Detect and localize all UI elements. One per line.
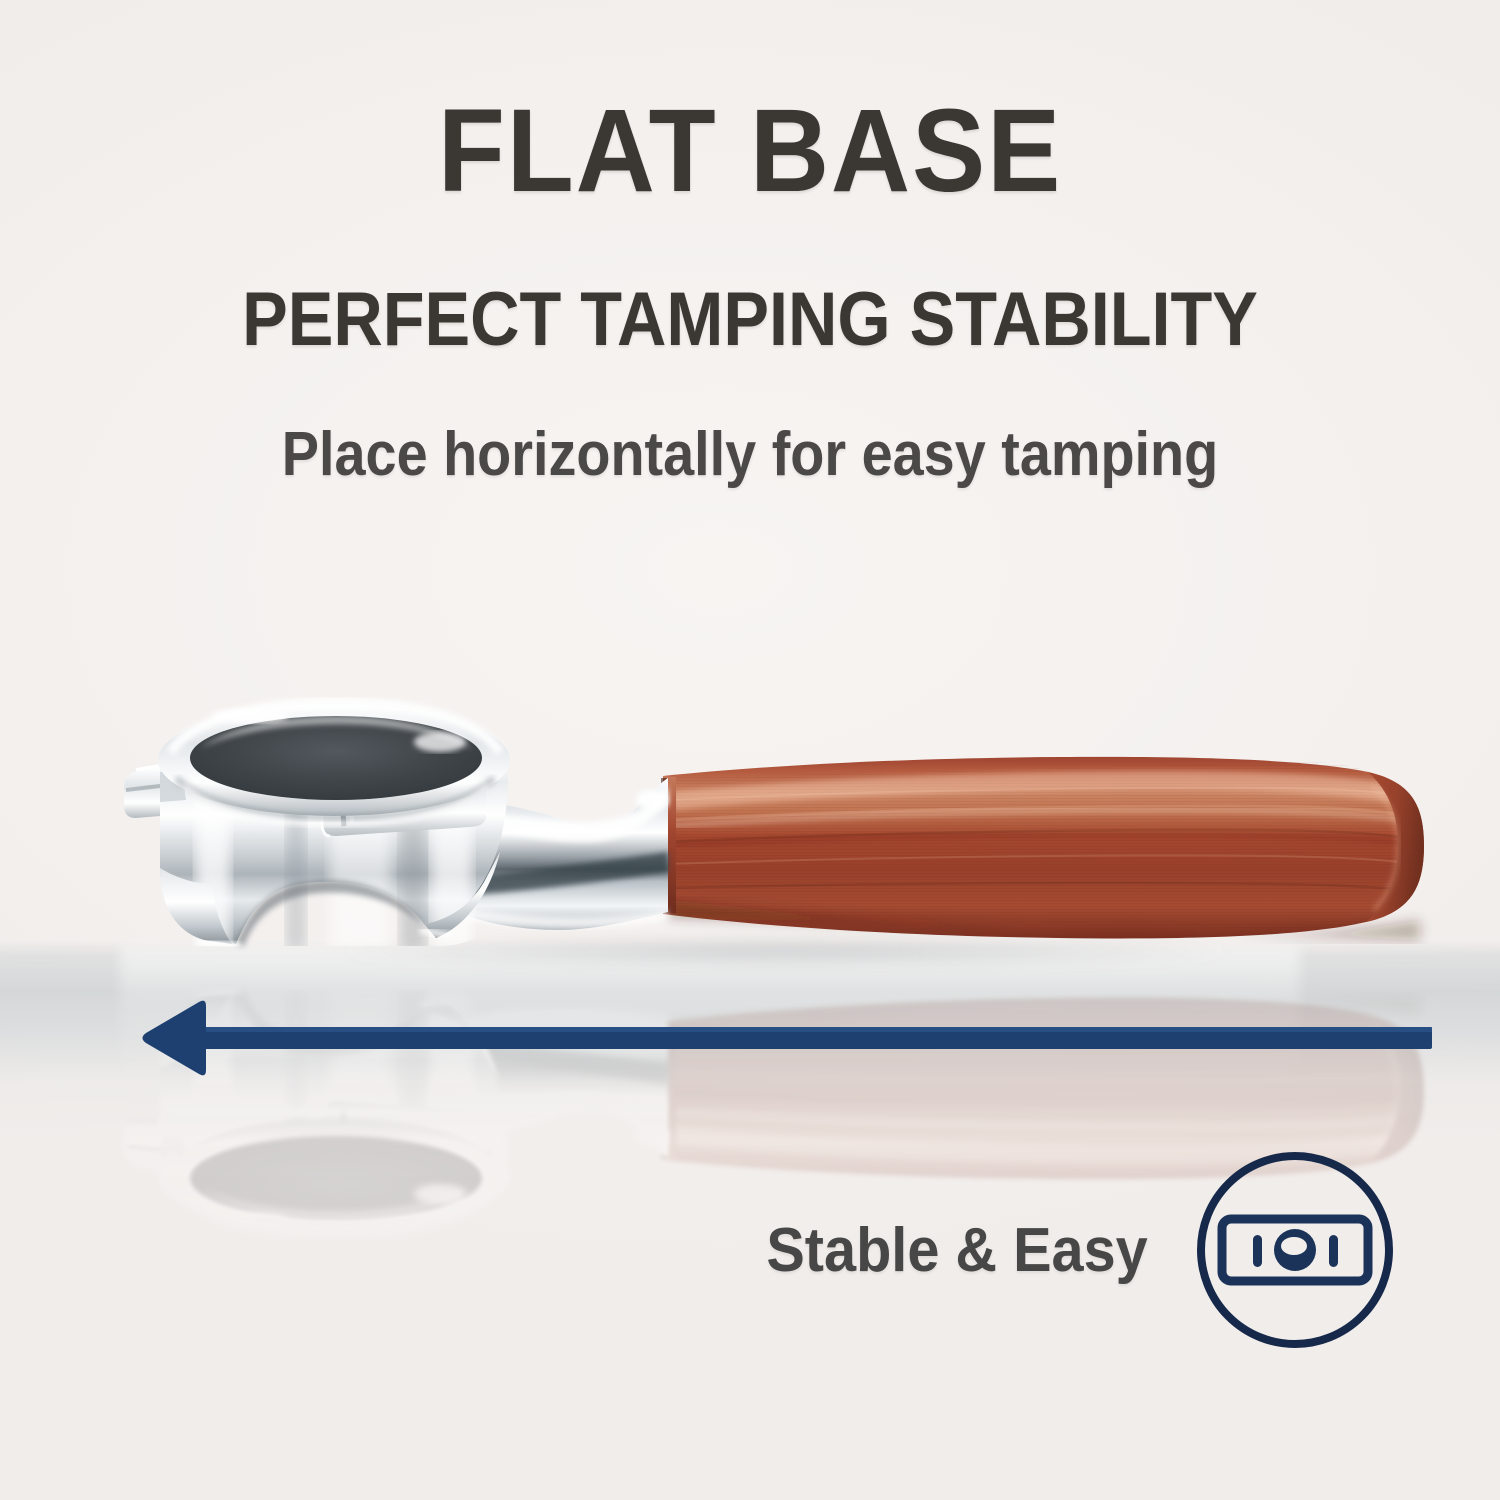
page-title: FLAT BASE	[53, 92, 1448, 210]
basket-rim	[158, 702, 510, 824]
portafilter-body	[124, 750, 508, 950]
wooden-handle	[650, 750, 1440, 945]
spirit-level-icon	[1190, 1145, 1400, 1355]
badge-icon-container	[1190, 1145, 1400, 1355]
product-contact-shadow	[150, 930, 1420, 972]
product-feature-image: FLAT BASE PERFECT TAMPING STABILITY Plac…	[0, 0, 1500, 1500]
page-subtitle: PERFECT TAMPING STABILITY	[75, 282, 1425, 358]
badge-label: Stable & Easy	[766, 1215, 1147, 1286]
chrome-neck	[436, 778, 668, 930]
page-caption: Place horizontally for easy tamping	[75, 424, 1425, 486]
feature-badge: Stable & Easy	[700, 1145, 1400, 1355]
